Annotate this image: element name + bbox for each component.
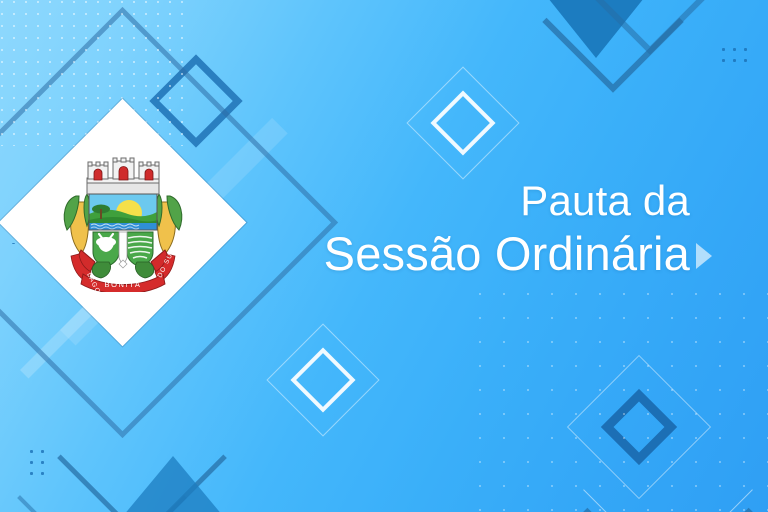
diamond-outline-bottom-right-outer: [567, 355, 711, 499]
title-line-2: Sessão Ordinária: [324, 226, 690, 282]
diamond-outline-bottom-inner: [290, 347, 355, 412]
diamond-navy-bottom-right: [601, 389, 677, 465]
diamond-navy-top-left: [149, 54, 242, 147]
chevron-top-right-1: [542, 0, 683, 93]
triangle-bottom-left: [118, 456, 228, 512]
mural-crown: [87, 158, 159, 194]
chevron-bottom-left-2: [17, 413, 187, 512]
chevron-bottom-left-1: [57, 373, 227, 512]
diamond-outline-bottom-outer: [266, 323, 379, 436]
emblem-card: BONITA LAGOA DO SUL: [0, 99, 246, 346]
arrow-right-icon: [696, 243, 712, 269]
dot-grid-top-left: [0, 0, 186, 146]
chevron-top-right-2: [579, 0, 720, 55]
coat-of-arms: BONITA LAGOA DO SUL: [35, 135, 210, 310]
diamond-outline-top-inner: [430, 90, 495, 155]
dot-grid-bottom-right: [468, 282, 768, 512]
ribbon-center-text: BONITA: [104, 280, 141, 289]
chevron-bottom-right-1: [583, 427, 753, 512]
diamond-outline-top-outer: [406, 66, 519, 179]
dot-cluster-top-right: [718, 44, 754, 70]
dot-cluster-bottom-left: [26, 446, 52, 482]
diagonal-stripe-2: [600, 0, 768, 1]
triangle-top-right: [548, 0, 644, 58]
title-line-1: Pauta da: [324, 176, 690, 226]
shield-landscape: [89, 194, 157, 230]
banner-title: Pauta da Sessão Ordinária: [324, 176, 690, 282]
coat-of-arms-svg: BONITA LAGOA DO SUL: [57, 154, 189, 292]
pauta-banner: BONITA LAGOA DO SUL Pauta da Sessão Ordi…: [0, 0, 768, 512]
chevron-bottom-right-2: [583, 405, 753, 512]
